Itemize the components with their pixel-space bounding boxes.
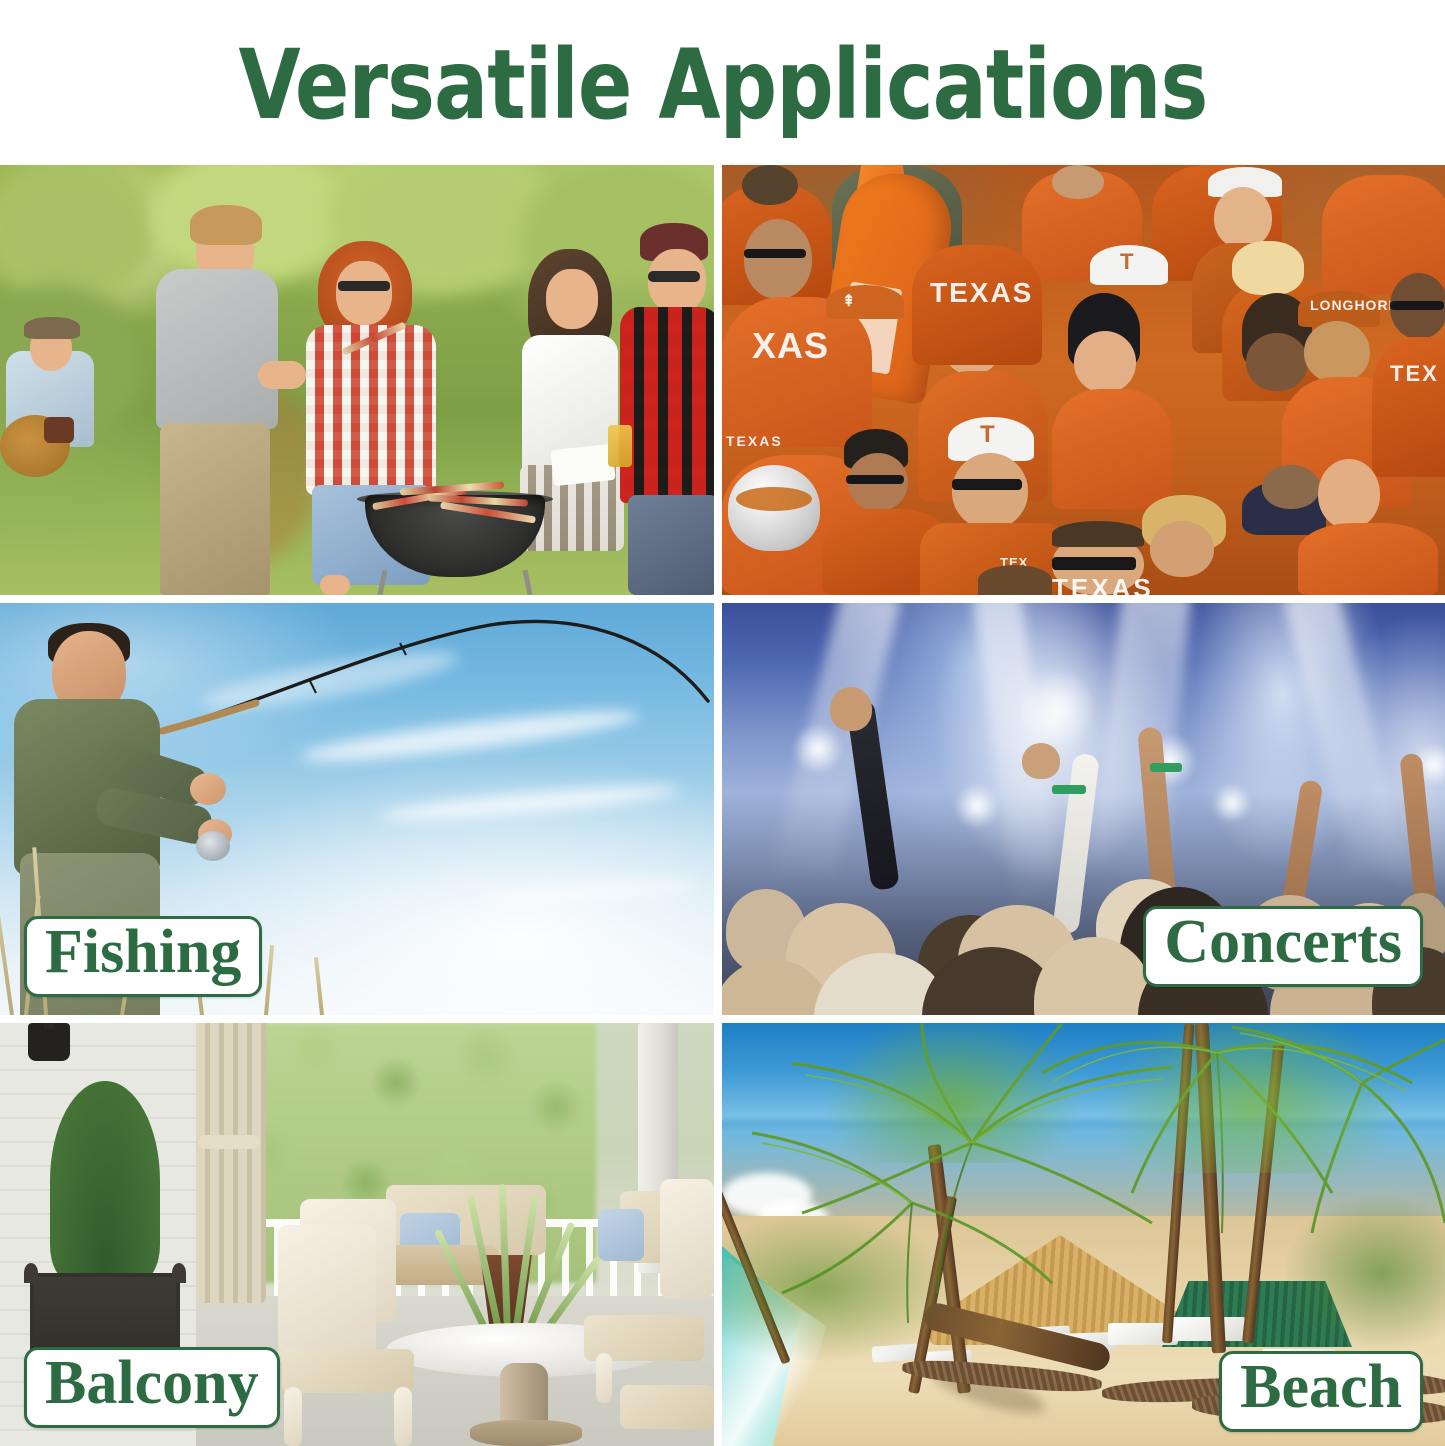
label-badge-balcony: Balcony — [24, 1347, 280, 1428]
shorts — [628, 495, 714, 595]
fan-head — [952, 453, 1028, 529]
flat-cap — [24, 317, 80, 339]
fan-torso — [722, 297, 872, 447]
person-shirt — [156, 269, 278, 429]
fan-head — [1074, 331, 1136, 393]
gallery-cell-fishing[interactable]: Fishing — [0, 603, 714, 1015]
performer-silhouette — [1022, 663, 1092, 753]
planter-finial — [24, 1263, 38, 1283]
label-badge-fishing: Fishing — [24, 916, 262, 997]
fan-head — [1304, 321, 1370, 383]
palm-canopy — [1102, 1023, 1402, 1173]
stage-spotlight — [792, 723, 844, 775]
chair-leg — [394, 1387, 412, 1446]
fishing-rod — [160, 603, 714, 903]
sunglasses — [744, 249, 806, 258]
blonde-hair — [1232, 241, 1304, 295]
label-badge-concerts: Concerts — [1143, 906, 1423, 987]
lantern-bracket — [44, 1023, 54, 1029]
jersey-wordmark: XAS — [752, 325, 829, 367]
fan-head — [742, 165, 798, 205]
wristband — [1052, 785, 1086, 794]
label-badge-beach: Beach — [1219, 1351, 1423, 1432]
person-arm — [258, 361, 306, 389]
fan-head — [1150, 521, 1214, 577]
stage-spotlight — [1212, 783, 1252, 823]
dining-chair-back — [278, 1225, 376, 1365]
raised-fist — [830, 687, 872, 731]
gallery-cell-sporting-events[interactable]: XAS ⇞ TEXAS T LONGHORNS TEX — [722, 165, 1445, 595]
fan-torso — [1052, 389, 1172, 509]
jersey-wordmark: TEX — [1390, 361, 1439, 387]
chair-seat-cushion — [620, 1385, 714, 1429]
tall-grass — [264, 945, 274, 1015]
guitar-soundhole — [44, 417, 74, 443]
gallery-cell-beach[interactable]: Beach — [722, 1023, 1445, 1446]
chair-leg — [596, 1353, 612, 1403]
person-leg — [320, 575, 350, 595]
application-gallery-grid: Camping XAS ⇞ — [0, 165, 1445, 1445]
gallery-cell-balcony[interactable]: Balcony — [0, 1023, 714, 1446]
raised-arm — [1052, 753, 1100, 935]
cap-letter: T — [980, 421, 996, 449]
person-hair — [190, 205, 262, 245]
fan-torso — [1298, 523, 1438, 595]
sunglasses — [952, 479, 1022, 490]
cap-logo: ⇞ — [842, 291, 856, 311]
eyeglasses — [338, 281, 390, 291]
drink-cup — [608, 425, 632, 467]
versatile-applications-infographic: Versatile Applications — [0, 0, 1445, 1445]
jersey-wordmark: TEXAS — [726, 433, 783, 449]
plaid-shirt — [306, 325, 436, 495]
dining-chair-back — [660, 1179, 714, 1299]
planter-finial — [172, 1263, 186, 1283]
gallery-cell-camping[interactable]: Camping — [0, 165, 714, 595]
person-head — [336, 261, 392, 325]
fan-torso — [1372, 337, 1445, 477]
fan-hair — [1052, 521, 1144, 547]
raised-hand — [1022, 743, 1060, 779]
palm-canopy — [722, 1213, 962, 1363]
blue-throw-pillow — [598, 1209, 644, 1261]
fishing-reel — [196, 831, 230, 861]
fan-head — [744, 219, 812, 299]
person-trousers — [160, 423, 270, 595]
fan-head — [1052, 165, 1104, 199]
longhorn-logo — [736, 487, 812, 511]
fan-head — [1214, 187, 1272, 249]
eyeglasses — [648, 271, 700, 282]
aviator-sunglasses — [846, 475, 904, 484]
cap-letter: T — [1120, 249, 1134, 275]
foliage-blob — [0, 165, 160, 305]
wristband — [1150, 763, 1182, 772]
fan-head — [1246, 333, 1308, 391]
red-plaid-shirt — [620, 307, 714, 503]
gallery-cell-concerts[interactable]: Concerts — [722, 603, 1445, 1015]
stage-spotlight — [954, 783, 1000, 829]
tall-grass — [314, 957, 324, 1015]
page-title: Versatile Applications — [238, 37, 1207, 133]
fan-hair — [978, 565, 1052, 595]
sunglasses — [1390, 301, 1444, 310]
jersey-wordmark: TEXAS — [1052, 573, 1154, 595]
fan-head — [1262, 465, 1320, 509]
grill-leg — [522, 570, 532, 595]
chair-seat-cushion — [282, 1349, 414, 1393]
jersey-wordmark: TEXAS — [930, 277, 1033, 309]
palm-canopy — [822, 1023, 1082, 1163]
page-header: Versatile Applications — [0, 0, 1445, 165]
palm-canopy — [1282, 1193, 1445, 1353]
tall-grass — [0, 866, 14, 1015]
topiary-shrub — [50, 1081, 160, 1281]
curtain-tieback — [198, 1135, 260, 1149]
sunglasses — [1052, 557, 1136, 570]
table-base — [470, 1420, 582, 1446]
person-head — [546, 269, 598, 329]
fan-head — [1318, 459, 1380, 529]
paper-plate — [550, 444, 615, 486]
chair-leg — [284, 1387, 302, 1446]
orange-cap — [826, 285, 904, 319]
outdoor-curtain — [196, 1023, 266, 1303]
